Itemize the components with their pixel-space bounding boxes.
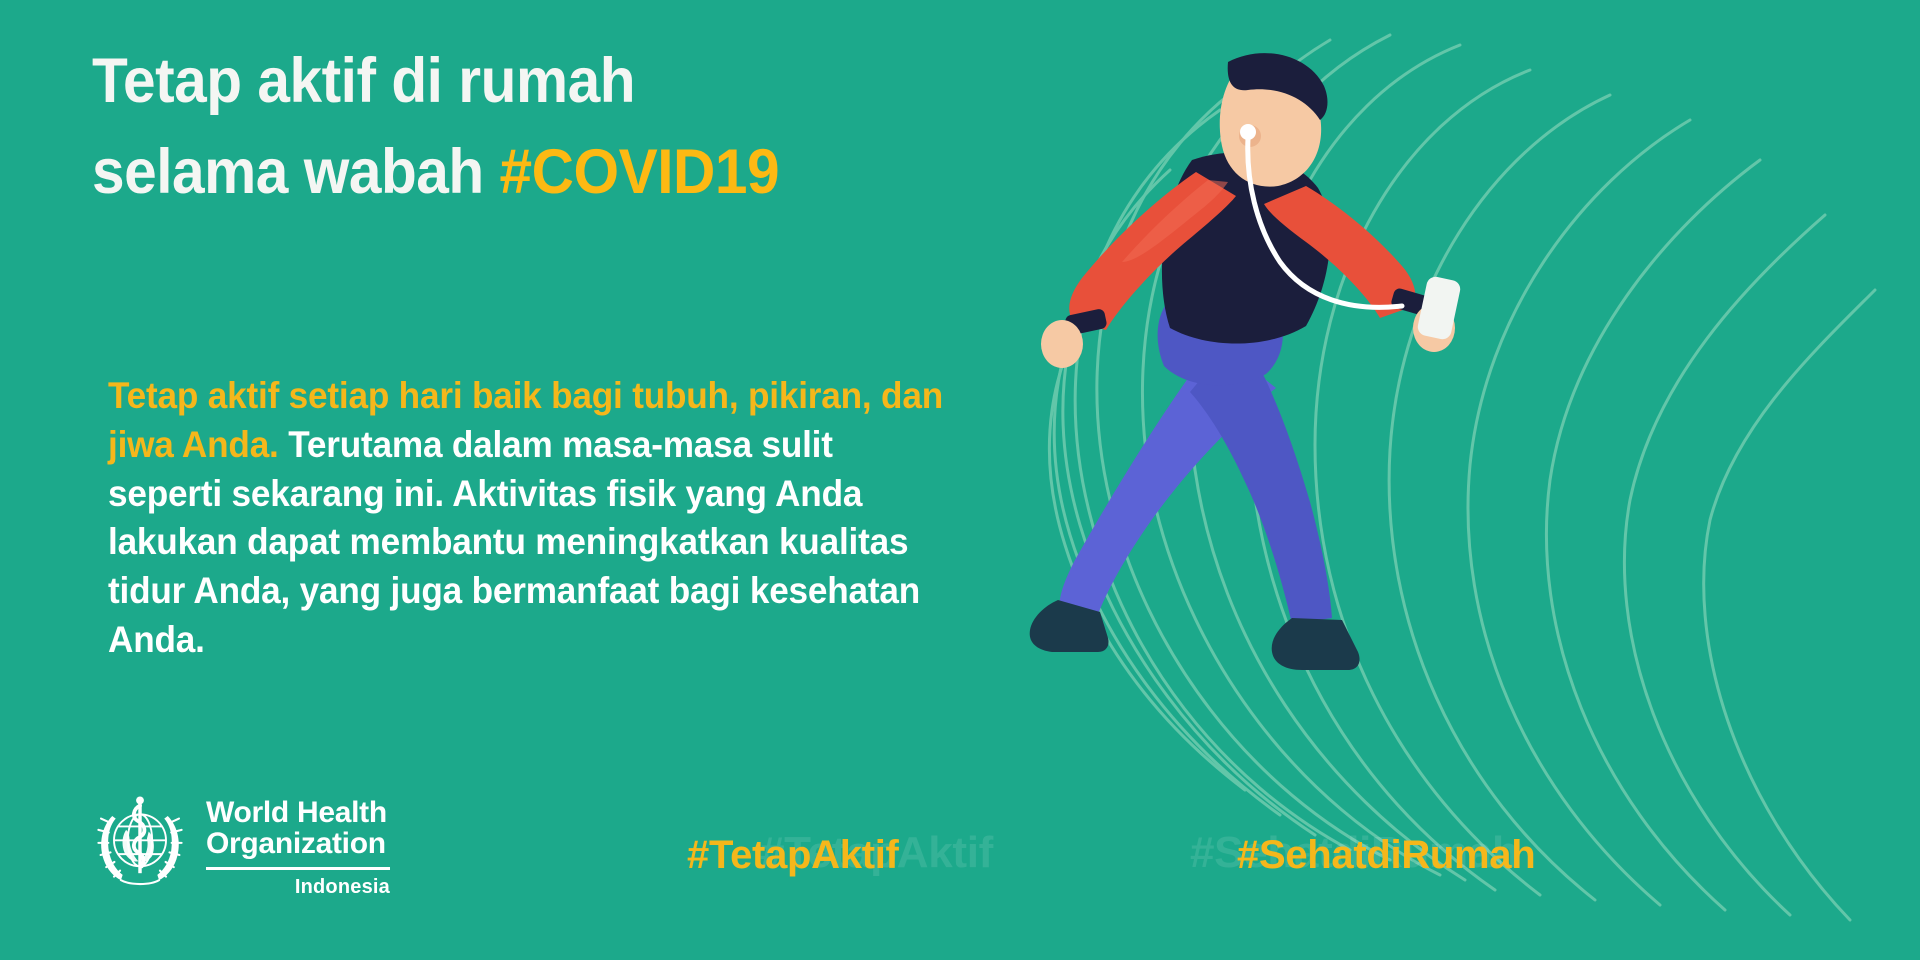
- headline: Tetap aktif di rumah selama wabah #COVID…: [92, 36, 985, 217]
- back-hand: [1041, 320, 1083, 368]
- headline-line-2: selama wabah #COVID19: [92, 127, 985, 218]
- who-wordmark: World Health Organization Indonesia: [206, 790, 390, 899]
- hashtag-tetap-aktif: #TetapAktif: [687, 833, 899, 878]
- headline-line-1: Tetap aktif di rumah: [92, 36, 985, 127]
- who-divider: [206, 867, 390, 870]
- who-country-label: Indonesia: [206, 876, 390, 899]
- who-name-line-1: World Health: [206, 798, 390, 829]
- hashtag-sehat-di-rumah: #SehatdiRumah: [1237, 833, 1535, 878]
- illustration-person-jogging: [940, 40, 1560, 680]
- poster-canvas: Tetap aktif di rumah selama wabah #COVID…: [0, 0, 1920, 960]
- headline-line-2-text: selama wabah: [92, 137, 500, 207]
- smartphone: [1416, 275, 1462, 341]
- body-paragraph: Tetap aktif setiap hari baik bagi tubuh,…: [108, 372, 944, 665]
- headline-hashtag-covid19: #COVID19: [500, 137, 780, 207]
- who-name-line-2: Organization: [206, 829, 390, 860]
- who-logo: World Health Organization Indonesia: [88, 790, 390, 899]
- front-shoe: [1272, 618, 1360, 670]
- who-emblem-icon: [88, 790, 192, 894]
